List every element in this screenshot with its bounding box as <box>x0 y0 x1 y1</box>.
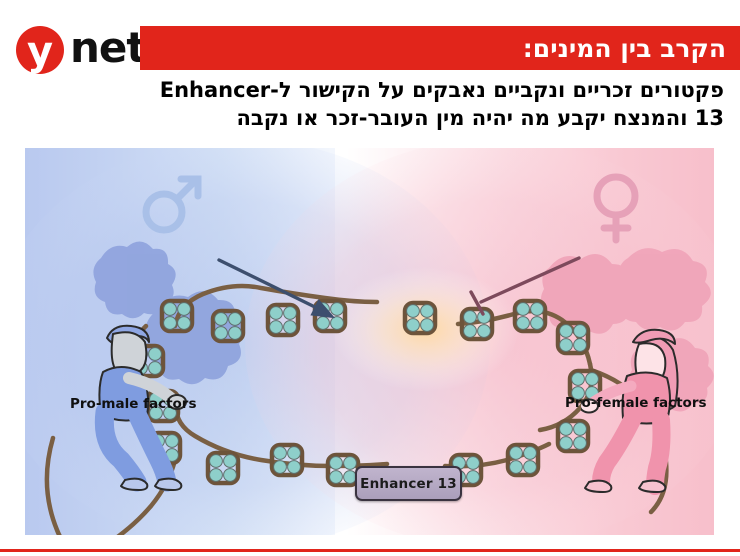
logo-circle-mark: y <box>16 26 64 74</box>
logo-wordmark: net <box>70 27 145 69</box>
logo-letter-y: y <box>27 32 53 72</box>
subtitle-line-1: פקטורים זכריים ונקביים נאבקים על הקישור … <box>24 76 724 104</box>
enhancer-13-box[interactable]: Enhancer 13 <box>355 466 462 501</box>
subtitle-line-2: 13 והמנצח יקבע מה יהיה מין העובר-זכר או … <box>24 104 724 132</box>
pro-female-factors-label: Pro-female factors <box>565 395 707 411</box>
pro-male-activation-arrow <box>213 254 343 324</box>
pro-female-inhibition-bar <box>461 252 591 322</box>
footer-rule <box>0 549 740 552</box>
subtitle-block: פקטורים זכריים ונקביים נאבקים על הקישור … <box>24 76 724 132</box>
female-figure-illustration <box>581 324 711 500</box>
page-header: y net הקרב בין המינים: פקטורים זכריים ונ… <box>0 0 740 140</box>
ynet-logo[interactable]: y net <box>16 24 145 76</box>
infographic-illustration: Enhancer 13 SOX9 Gene Pro-male factors P… <box>25 148 714 535</box>
headline-banner: הקרב בין המינים: <box>140 26 740 70</box>
enhancer-13-label: Enhancer 13 <box>360 476 457 492</box>
pro-male-factors-label: Pro-male factors <box>70 396 197 412</box>
headline-text: הקרב בין המינים: <box>523 34 726 63</box>
